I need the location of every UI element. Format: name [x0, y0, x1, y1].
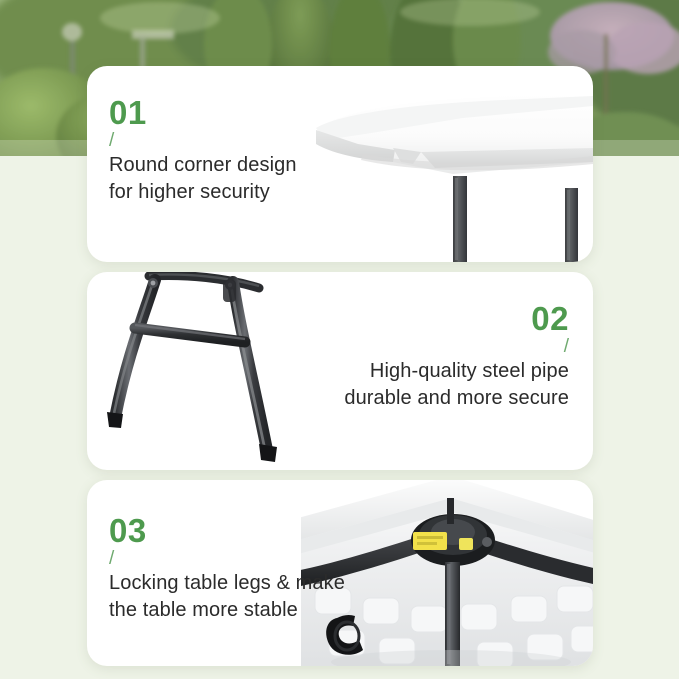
feature-text-1: 01 / Round corner design for higher secu… [109, 96, 297, 206]
feature-slash-2: / [344, 337, 569, 356]
product-feature-infographic: 01 / Round corner design for higher secu… [0, 0, 679, 679]
feature-card-3[interactable]: 03 / Locking table legs & make the table… [87, 480, 593, 666]
feature-description-3: Locking table legs & make the table more… [109, 570, 345, 624]
feature-text-2: 02 / High-quality steel pipe durable and… [344, 302, 569, 412]
feature-slash-3: / [109, 549, 345, 568]
feature-card-1[interactable]: 01 / Round corner design for higher secu… [87, 66, 593, 262]
feature-number-1: 01 [109, 96, 297, 129]
feature-number-3: 03 [109, 514, 345, 547]
steel-pipe-leg-frame-photo [87, 272, 357, 470]
feature-number-2: 02 [344, 302, 569, 335]
feature-description-2: High-quality steel pipe durable and more… [344, 358, 569, 412]
feature-card-2[interactable]: 02 / High-quality steel pipe durable and… [87, 272, 593, 470]
folding-table-top-corner-photo [303, 88, 593, 262]
feature-text-3: 03 / Locking table legs & make the table… [109, 514, 345, 624]
feature-slash-1: / [109, 131, 297, 150]
feature-description-1: Round corner design for higher security [109, 152, 297, 206]
